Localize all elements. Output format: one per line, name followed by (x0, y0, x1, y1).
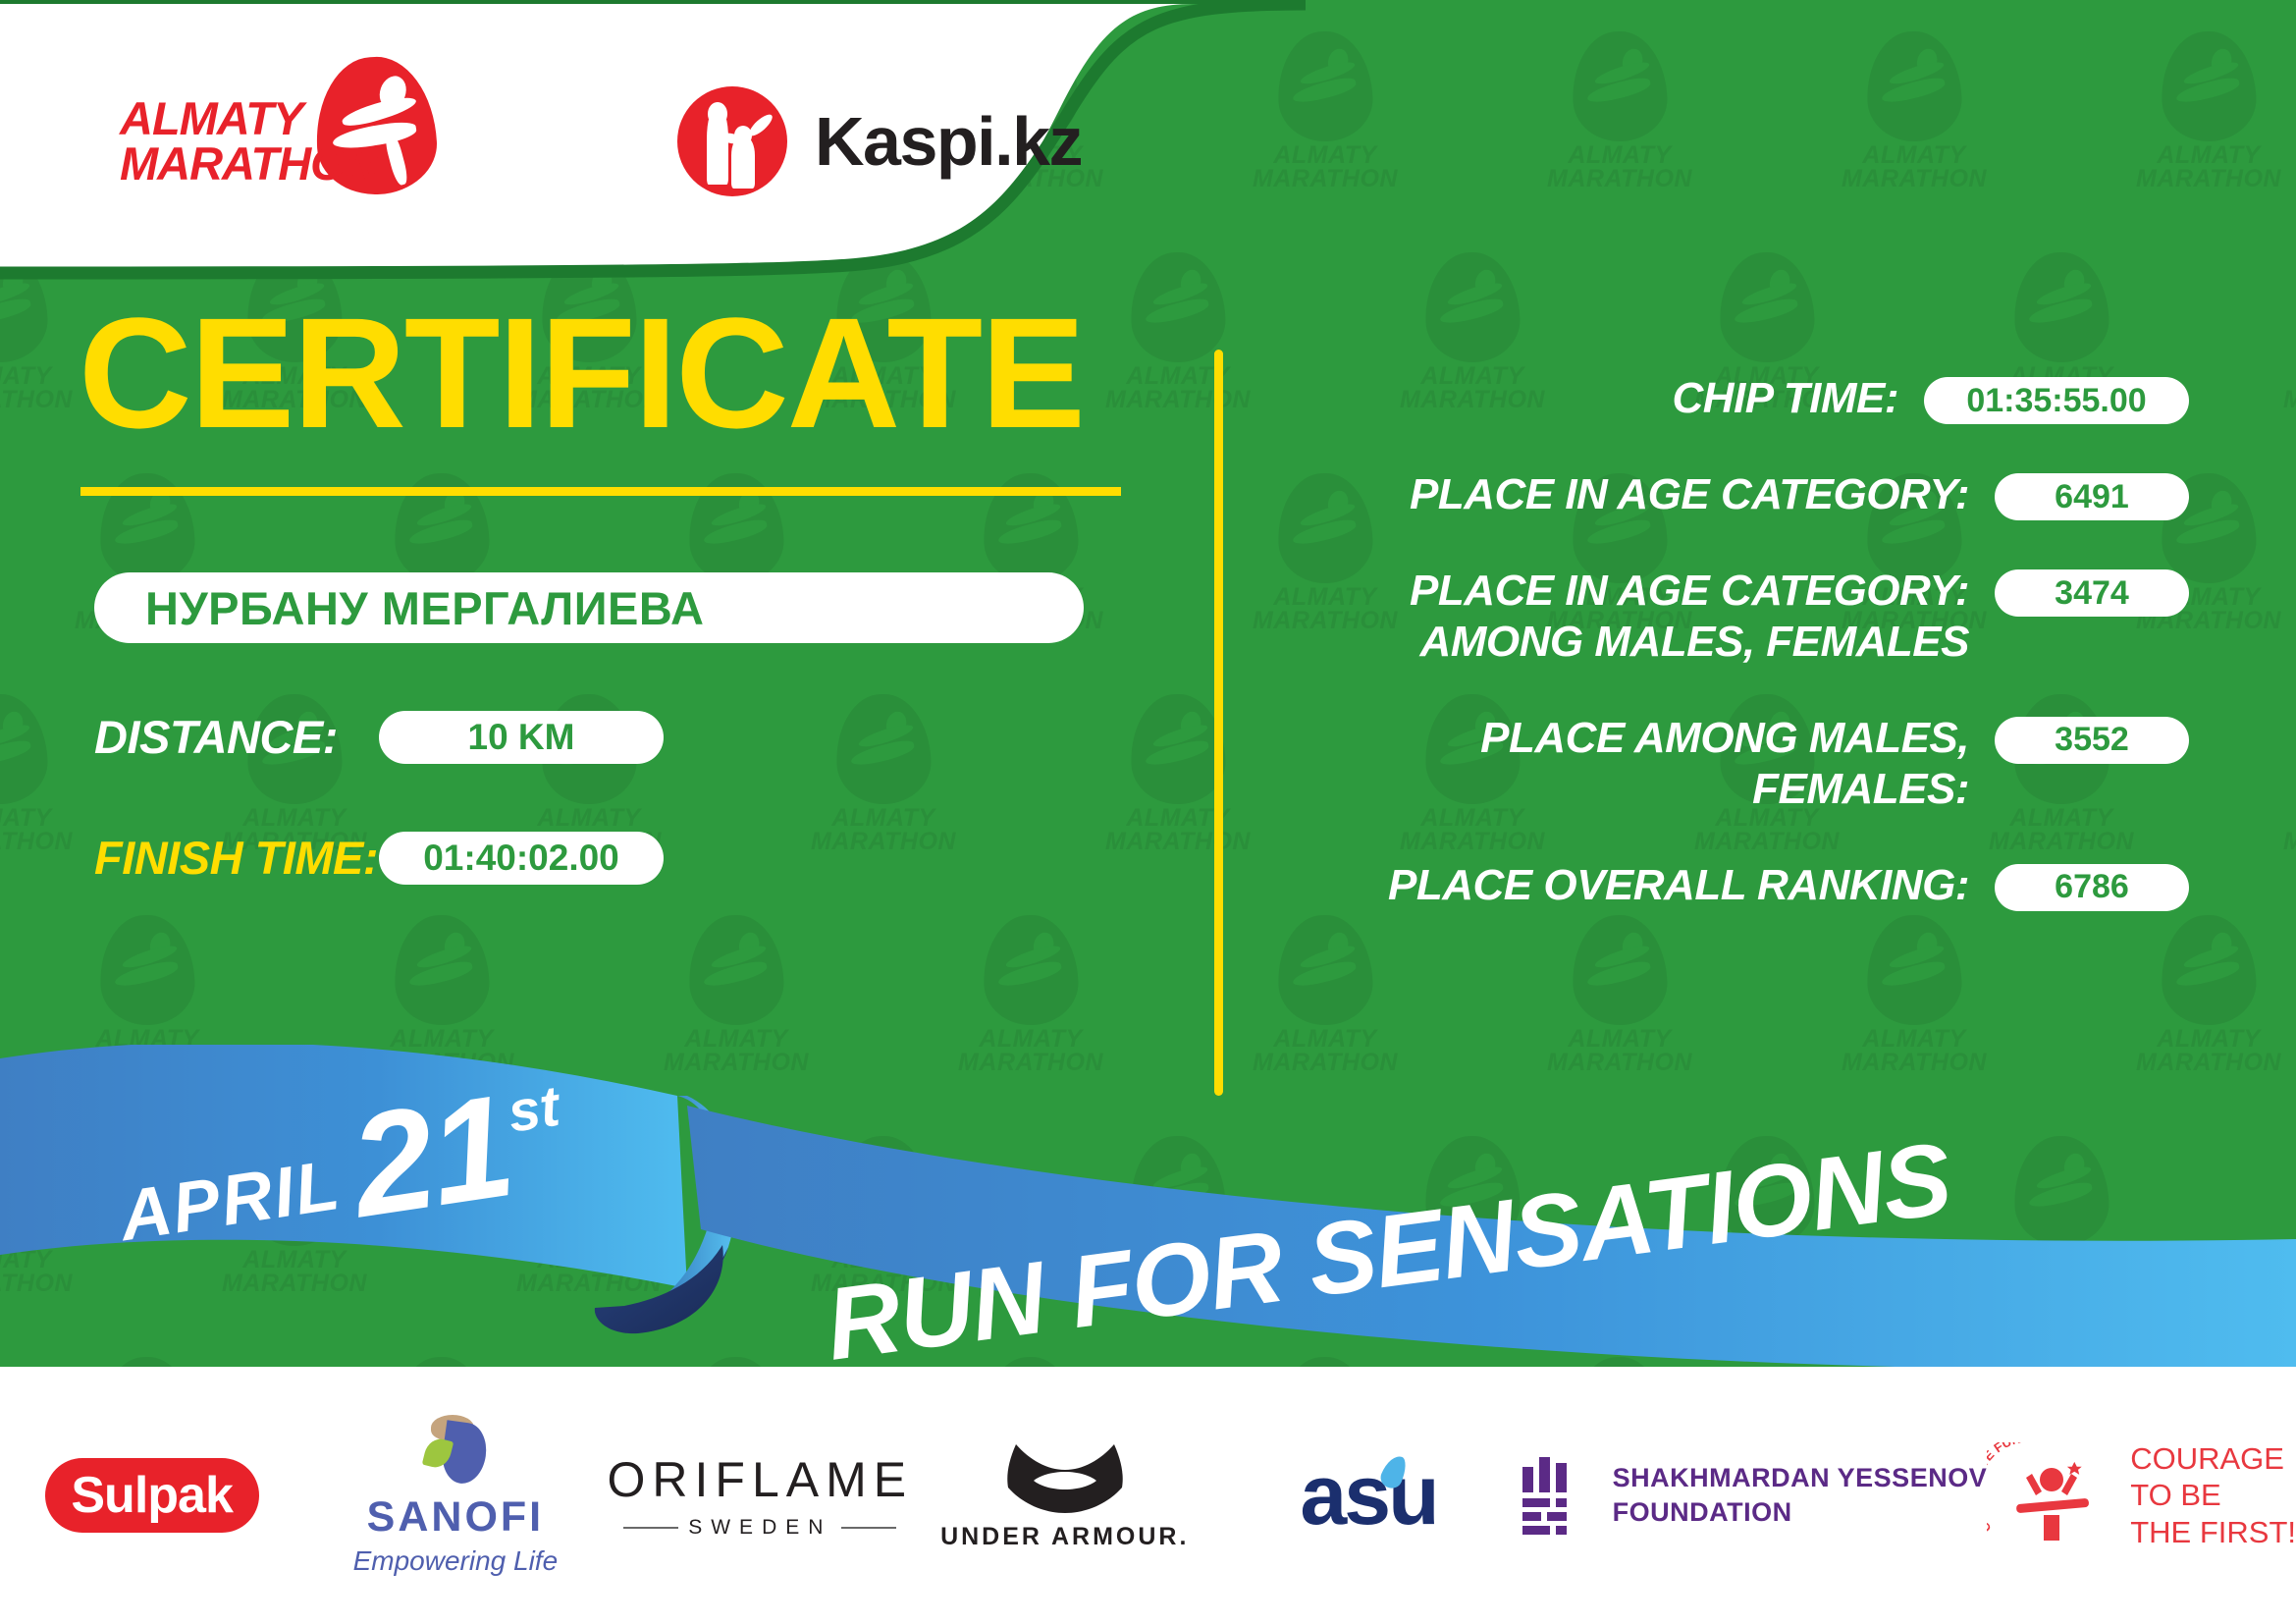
sulpak-badge: Sulpak (45, 1458, 259, 1533)
sponsor-logo-oriflame: ORIFLAME SWEDEN (608, 1451, 914, 1540)
watermark-arm-shape (1151, 721, 1209, 750)
place-among-gender-value-pill: 3552 (1995, 717, 2189, 764)
results-stats-column: CHIP TIME: 01:35:55.00 PLACE IN AGE CATE… (1276, 373, 2189, 956)
finish-time-value: 01:40:02.00 (423, 838, 619, 879)
watermark-arm-shape (1593, 58, 1651, 87)
almaty-line: ALMATY (120, 96, 385, 141)
courage-line2: TO BE (2130, 1477, 2296, 1513)
watermark-arm-shape (2182, 942, 2240, 971)
certificate-page: ALMATYMARATHONALMATYMARATHONALMATYMARATH… (0, 0, 2296, 1624)
place-age-category-label: PLACE IN AGE CATEGORY: (1276, 469, 1995, 520)
distance-value-pill: 10 KM (379, 711, 664, 764)
title-underline-rule (80, 487, 1121, 496)
distance-label: DISTANCE: (94, 710, 379, 764)
under-armour-icon (1000, 1440, 1130, 1517)
place-age-category-value: 6491 (2055, 478, 2129, 516)
watermark-drop-icon (1571, 29, 1669, 142)
event-day-suffix: st (504, 1073, 563, 1146)
watermark-drop-icon (2012, 250, 2110, 363)
distance-row: DISTANCE: 10 KM (94, 710, 1158, 764)
watermark-tile: ALMATYMARATHON (2061, 0, 2296, 221)
watermark-drop-icon (687, 913, 785, 1026)
participant-name-value: НУРБАНУ МЕРГАЛИЕВА (145, 581, 704, 635)
watermark-text: ALMATYMARATHON (1547, 143, 1692, 190)
oriflame-subline: SWEDEN (608, 1516, 914, 1540)
oriflame-wordmark: ORIFLAME (608, 1451, 914, 1508)
watermark-text: ALMATYMARATHON (2283, 806, 2296, 853)
sponsor-logo-under-armour: UNDER ARMOUR. (913, 1440, 1216, 1551)
under-armour-wordmark: UNDER ARMOUR. (940, 1523, 1189, 1551)
watermark-text: ALMATYMARATHON (2136, 143, 2281, 190)
watermark-arm-shape (1446, 279, 1504, 308)
watermark-arm-shape (2035, 279, 2093, 308)
watermark-drop-icon (2160, 29, 2258, 142)
shakhmardan-bars-icon (1521, 1453, 1587, 1538)
shakhmardan-line2: FOUNDATION (1613, 1495, 1988, 1530)
kaspi-wordmark: Kaspi.kz (815, 102, 1082, 181)
finish-time-row: FINISH TIME: 01:40:02.00 (94, 831, 1158, 885)
courage-fund-wordmark: COURAGE TO BE THE FIRST! (2130, 1440, 2296, 1550)
shakhmardan-wordmark: SHAKHMARDAN YESSENOV FOUNDATION (1613, 1461, 1988, 1529)
watermark-arm-shape (1299, 58, 1357, 87)
watermark-text: ALMATYMARATHON (1842, 143, 1987, 190)
stat-row: CHIP TIME: 01:35:55.00 (1276, 373, 2189, 424)
marathon-line: MARATHON (120, 141, 385, 187)
two-figures-circle-icon (677, 86, 787, 196)
svg-text:CORPORATE FUND: CORPORATE FUND (1987, 1442, 2031, 1536)
sponsor-logo-sulpak: Sulpak (0, 1458, 303, 1533)
sponsor-logo-shakhmardan: SHAKHMARDAN YESSENOV FOUNDATION (1521, 1453, 1988, 1538)
sulpak-wordmark: Sulpak (71, 1466, 233, 1525)
certificate-left-column: CERTIFICATE НУРБАНУ МЕРГАЛИЕВА DISTANCE:… (0, 295, 1158, 885)
watermark-tile: ALMATYMARATHON (1472, 0, 1767, 221)
event-ribbon: APRIL 21 st RUN FOR SENSATIONS (0, 1045, 2296, 1369)
child-arm-shape (746, 111, 775, 138)
finish-time-label: FINISH TIME: (94, 831, 379, 885)
watermark-drop-icon (393, 913, 491, 1026)
courage-fund-figure-icon: CORPORATE FUND (1987, 1442, 2114, 1548)
courage-line3: THE FIRST! (2130, 1514, 2296, 1550)
place-among-gender-value: 3552 (2055, 721, 2129, 759)
oriflame-rule-right (841, 1527, 896, 1529)
watermark-drop-icon (982, 913, 1080, 1026)
courage-line1: COURAGE (2130, 1440, 2296, 1477)
sponsor-logo-courage-fund: CORPORATE FUND COURAGE TO BE THE FIRST! (1987, 1440, 2296, 1550)
place-age-category-value-pill: 6491 (1995, 473, 2189, 520)
figure-leg-back-shape (383, 132, 409, 187)
watermark-drop-icon (1718, 250, 1816, 363)
watermark-tile: ALMATYMARATHON (1767, 0, 2061, 221)
finish-time-value-pill: 01:40:02.00 (379, 832, 664, 885)
kaspi-logo: Kaspi.kz (677, 86, 1082, 196)
oriflame-rule-left (623, 1527, 678, 1529)
adult-head-shape (708, 102, 727, 126)
stat-row: PLACE IN AGE CATEGORY: AMONG MALES, FEMA… (1276, 566, 2189, 668)
almaty-marathon-logo: ALMATY MARATHON (120, 57, 444, 204)
stat-row: PLACE OVERALL RANKING: 6786 (1276, 860, 2189, 911)
watermark-tile: ALMATYMARATHON (2209, 221, 2296, 442)
place-overall-label: PLACE OVERALL RANKING: (1276, 860, 1995, 911)
watermark-arm-shape (121, 942, 179, 971)
vertical-divider (1214, 350, 1223, 1096)
watermark-drop-icon (1865, 29, 1963, 142)
stat-row: PLACE AMONG MALES, FEMALES: 3552 (1276, 713, 2189, 815)
watermark-arm-shape (415, 942, 473, 971)
watermark-arm-shape (1004, 942, 1062, 971)
place-age-category-gender-value-pill: 3474 (1995, 569, 2189, 617)
place-overall-value-pill: 6786 (1995, 864, 2189, 911)
place-among-gender-label: PLACE AMONG MALES, FEMALES: (1276, 713, 1995, 815)
watermark-arm-shape (1888, 58, 1946, 87)
watermark-drop-icon (98, 913, 196, 1026)
watermark-text: ALMATYMARATHON (2283, 364, 2296, 411)
sponsor-logo-asu: asu (1216, 1447, 1520, 1544)
chip-time-value-pill: 01:35:55.00 (1924, 377, 2189, 424)
watermark-arm-shape (1740, 279, 1798, 308)
stat-row: PLACE IN AGE CATEGORY: 6491 (1276, 469, 2189, 520)
watermark-drop-icon (1423, 250, 1522, 363)
watermark-tile: ALMATYMARATHON (2209, 663, 2296, 884)
place-overall-value: 6786 (2055, 868, 2129, 906)
participant-name-field: НУРБАНУ МЕРГАЛИЕВА (94, 572, 1084, 643)
chip-time-value: 01:35:55.00 (1966, 382, 2146, 420)
asu-wordmark: asu (1300, 1447, 1436, 1544)
almaty-marathon-wordmark: ALMATY MARATHON (120, 96, 385, 187)
place-age-category-gender-label: PLACE IN AGE CATEGORY: AMONG MALES, FEMA… (1276, 566, 1995, 668)
watermark-arm-shape (710, 942, 768, 971)
sponsors-strip: Sulpak SANOFI Empowering Life ORIFLAME S… (0, 1367, 2296, 1624)
sanofi-wordmark: SANOFI (353, 1493, 559, 1542)
page-title: CERTIFICATE (79, 295, 1158, 452)
oriflame-sweden-text: SWEDEN (688, 1516, 831, 1540)
sponsor-logo-sanofi: SANOFI Empowering Life (303, 1415, 607, 1577)
shakhmardan-line1: SHAKHMARDAN YESSENOV (1613, 1461, 1988, 1495)
watermark-arm-shape (2182, 58, 2240, 87)
sanofi-leaf-icon (417, 1415, 494, 1488)
distance-value: 10 KM (468, 717, 575, 758)
header-panel: ALMATY MARATHON Kaspi.kz (0, 0, 1306, 285)
sanofi-tagline: Empowering Life (353, 1545, 559, 1577)
place-age-category-gender-value: 3474 (2055, 574, 2129, 613)
chip-time-label: CHIP TIME: (1276, 373, 1924, 424)
corporate-fund-arc-text: CORPORATE FUND (1987, 1442, 2031, 1536)
watermark-arm-shape (2182, 500, 2240, 529)
event-day: 21 (345, 1084, 518, 1229)
